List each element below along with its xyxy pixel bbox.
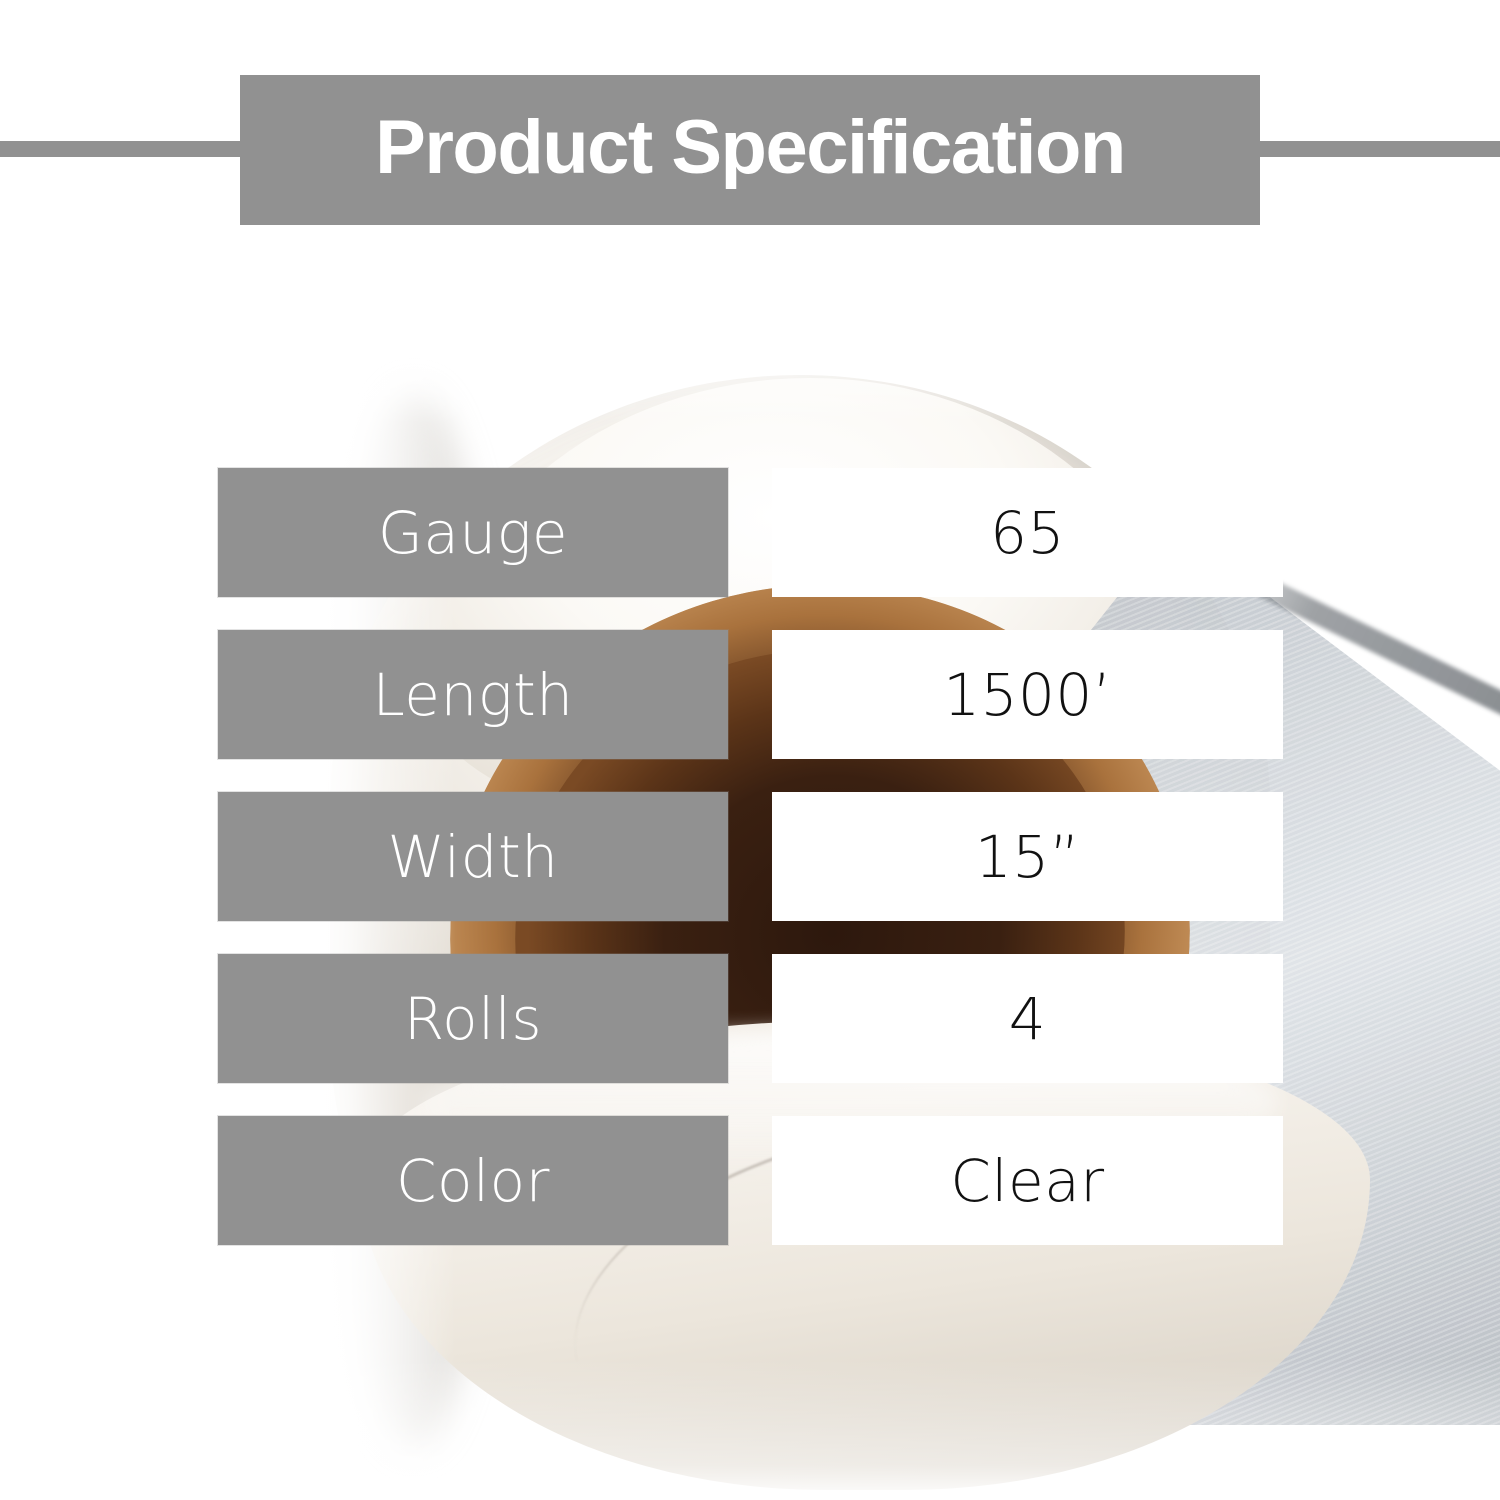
spec-value-text: 1500’ [943, 666, 1112, 724]
spec-cell-gap [728, 630, 772, 759]
table-row: Width 15” [218, 792, 1283, 921]
spec-value-cell: Clear [772, 1116, 1283, 1245]
spec-value-cell: 65 [772, 468, 1283, 597]
spec-value-cell: 15” [772, 792, 1283, 921]
spec-value-cell: 1500’ [772, 630, 1283, 759]
specification-table: Gauge 65 Length 1500’ Width 15” [218, 468, 1283, 1245]
spec-label-text: Rolls [404, 990, 542, 1048]
spec-label-text: Color [396, 1152, 550, 1210]
table-row: Length 1500’ [218, 630, 1283, 759]
spec-value-cell: 4 [772, 954, 1283, 1083]
spec-cell-gap [728, 468, 772, 597]
table-row: Rolls 4 [218, 954, 1283, 1083]
product-specification-page: Product Specification Gauge [0, 0, 1500, 1500]
table-row: Color Clear [218, 1116, 1283, 1245]
page-title: Product Specification [375, 110, 1125, 186]
spec-label-cell: Length [218, 630, 728, 759]
spec-label-cell: Color [218, 1116, 728, 1245]
spec-label-cell: Gauge [218, 468, 728, 597]
table-row: Gauge 65 [218, 468, 1283, 597]
spec-label-text: Width [387, 828, 558, 886]
spec-value-text: 4 [1009, 990, 1046, 1048]
spec-value-text: 15” [975, 828, 1080, 886]
spec-label-cell: Rolls [218, 954, 728, 1083]
spec-value-text: 65 [990, 504, 1065, 562]
spec-label-text: Length [372, 666, 573, 724]
spec-cell-gap [728, 792, 772, 921]
spec-label-text: Gauge [378, 504, 568, 562]
spec-cell-gap [728, 954, 772, 1083]
spec-value-text: Clear [950, 1152, 1104, 1210]
spec-label-cell: Width [218, 792, 728, 921]
header-title-plate: Product Specification [240, 75, 1260, 225]
spec-cell-gap [728, 1116, 772, 1245]
